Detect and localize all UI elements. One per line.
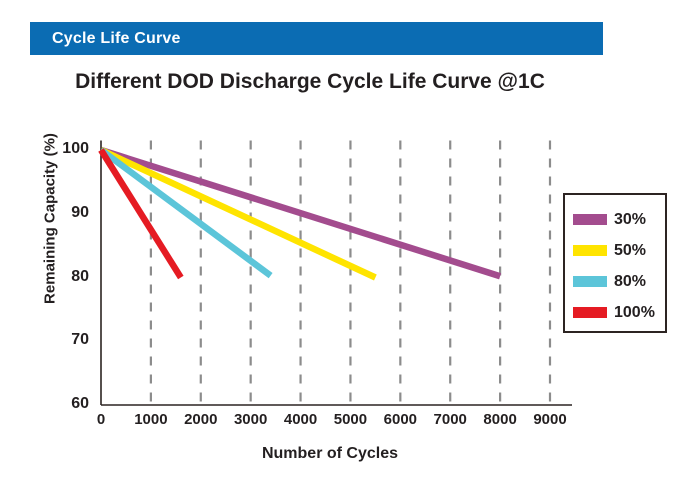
legend-item-100pct[interactable]: 100% — [565, 297, 665, 328]
chart-page: Cycle Life Curve Different DOD Discharge… — [0, 0, 680, 485]
x-tick-label-1000: 1000 — [123, 411, 179, 428]
legend-item-50pct[interactable]: 50% — [565, 235, 665, 266]
legend-label: 30% — [614, 211, 646, 229]
x-tick-label-8000: 8000 — [472, 411, 528, 428]
legend-label: 50% — [614, 242, 646, 260]
chart-legend: 30%50%80%100% — [563, 193, 667, 333]
legend-swatch-icon — [573, 214, 607, 225]
x-tick-label-0: 0 — [73, 411, 129, 428]
x-tick-label-3000: 3000 — [223, 411, 279, 428]
legend-swatch-icon — [573, 276, 607, 287]
x-tick-label-5000: 5000 — [322, 411, 378, 428]
series-line-80pct — [101, 150, 271, 276]
x-tick-label-7000: 7000 — [422, 411, 478, 428]
x-axis-title: Number of Cycles — [100, 445, 560, 463]
legend-swatch-icon — [573, 307, 607, 318]
y-tick-label-70: 70 — [53, 331, 89, 349]
legend-item-80pct[interactable]: 80% — [565, 266, 665, 297]
x-tick-label-6000: 6000 — [372, 411, 428, 428]
x-tick-label-4000: 4000 — [273, 411, 329, 428]
legend-label: 80% — [614, 273, 646, 291]
y-axis-title: Remaining Capacity (%) — [42, 119, 59, 319]
legend-swatch-icon — [573, 245, 607, 256]
x-tick-label-2000: 2000 — [173, 411, 229, 428]
x-tick-label-9000: 9000 — [522, 411, 578, 428]
legend-label: 100% — [614, 304, 655, 322]
chart-plot-area: 60708090100 0100020003000400050006000700… — [0, 0, 680, 485]
legend-item-30pct[interactable]: 30% — [565, 204, 665, 235]
series-lines-group — [101, 150, 500, 278]
